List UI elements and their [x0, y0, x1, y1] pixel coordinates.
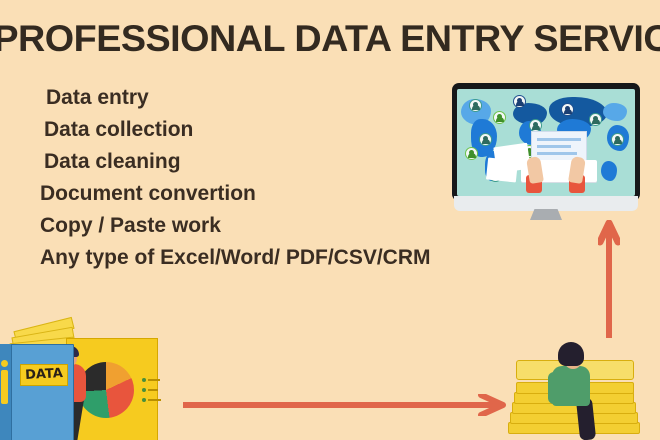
person-jacket [552, 366, 590, 406]
person-on-paper-stack-illustration [506, 340, 654, 440]
poster-canvas: PROFESSIONAL DATA ENTRY SERVICES Data en… [0, 0, 660, 440]
legend-dot [142, 398, 146, 402]
legend-line [148, 399, 161, 401]
legend-line [148, 389, 158, 391]
page-title: PROFESSIONAL DATA ENTRY SERVICES [0, 18, 660, 60]
info-icon-dot [1, 360, 8, 367]
arrow-up-icon [598, 220, 620, 338]
map-landmass [601, 161, 617, 181]
map-landmass [603, 103, 627, 121]
user-avatar-icon [611, 133, 624, 146]
user-avatar-icon [561, 103, 574, 116]
monitor-chin [454, 196, 638, 211]
legend-line [148, 379, 160, 381]
user-avatar-icon [493, 111, 506, 124]
arrow-right-icon [183, 394, 511, 416]
user-avatar-icon [589, 113, 602, 126]
monitor-bezel [452, 83, 640, 201]
pie-chart-icon [78, 362, 134, 418]
list-item: Any type of Excel/Word/ PDF/CSV/CRM [40, 242, 580, 274]
desktop-monitor-icon [452, 83, 640, 219]
user-avatar-icon [479, 133, 492, 146]
user-avatar-icon [465, 147, 478, 160]
book-title-text: DATA [21, 366, 68, 383]
open-data-book-illustration: DATA [0, 322, 172, 440]
document-sheet [486, 157, 518, 182]
user-avatar-icon [513, 95, 526, 108]
person-hair [558, 342, 584, 366]
monitor-stand [530, 209, 562, 220]
legend-dot [142, 378, 146, 382]
legend-dot [142, 388, 146, 392]
book-title-label: DATA [20, 364, 68, 386]
monitor-screen [457, 89, 635, 196]
info-icon-stem [1, 370, 8, 404]
user-avatar-icon [469, 99, 482, 112]
